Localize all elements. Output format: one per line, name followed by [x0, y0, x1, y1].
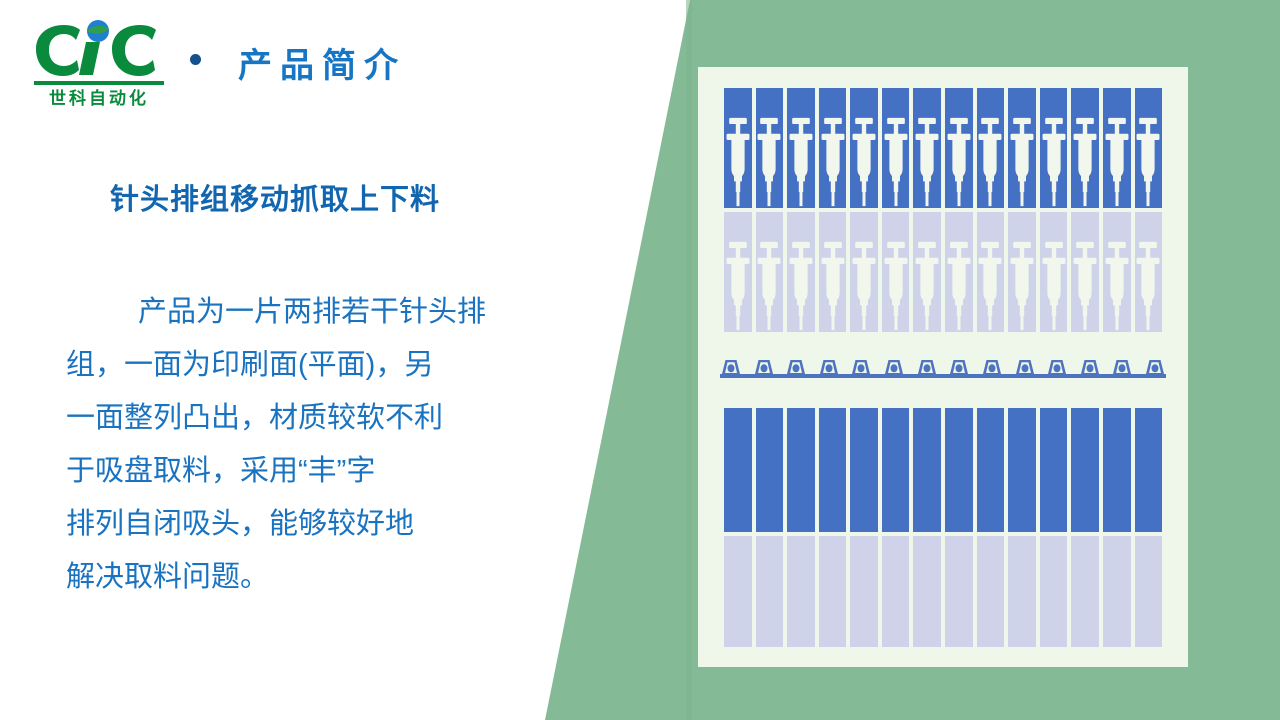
tray-slot — [882, 536, 910, 647]
syringe-icon — [1007, 116, 1037, 213]
slide-root: 世科自动化 产品简介 针头排组移动抓取上下料 产品为一片两排若干针头排 组，一面… — [0, 0, 1280, 720]
tray-slot — [945, 408, 973, 532]
syringe-icon — [1070, 116, 1100, 213]
tray-slot — [850, 88, 878, 208]
syringe-icon — [912, 240, 942, 332]
syringe-icon — [912, 116, 942, 213]
tray-slot — [1135, 88, 1163, 208]
syringe-icon — [754, 240, 784, 332]
tray-slot — [977, 212, 1005, 332]
tray-slot — [1008, 212, 1036, 332]
tray-slot — [787, 88, 815, 208]
syringe-icon — [881, 240, 911, 332]
suction-cup-icon — [720, 359, 742, 374]
tray-slot — [882, 88, 910, 208]
tray-slot — [1135, 408, 1163, 532]
tray-slot — [945, 212, 973, 332]
syringe-icon — [1102, 116, 1132, 213]
tray-slot — [977, 408, 1005, 532]
syringe-icon — [849, 116, 879, 208]
syringe-icon — [754, 116, 784, 213]
tray-slot — [756, 212, 784, 332]
tray-slot — [724, 536, 752, 647]
syringe-icon — [1007, 240, 1037, 337]
upper-tray-lavender-row — [724, 212, 1162, 332]
syringe-icon — [944, 116, 974, 213]
tray-slot — [724, 212, 752, 332]
syringe-icon — [975, 240, 1005, 332]
syringe-icon — [1102, 240, 1132, 332]
syringe-icon — [1039, 116, 1069, 208]
tray-slot — [850, 212, 878, 332]
syringe-icon — [1133, 116, 1163, 213]
logo-divider-rule — [34, 81, 164, 85]
syringe-icon — [1133, 116, 1163, 208]
syringe-icon — [818, 116, 848, 208]
syringe-icon — [1070, 116, 1100, 208]
syringe-icon — [786, 116, 816, 208]
tray-slot — [913, 88, 941, 208]
page-title: 产品简介 — [238, 38, 406, 87]
syringe-icon — [754, 116, 784, 208]
tray-slot — [913, 408, 941, 532]
syringe-icon — [723, 240, 753, 337]
lower-tray-blue-row — [724, 408, 1162, 532]
lower-tray-lavender-row — [724, 536, 1162, 647]
tray-slot — [724, 408, 752, 532]
suction-cup-icon — [1111, 359, 1133, 374]
syringe-icon — [1070, 240, 1100, 337]
syringe-icon — [912, 240, 942, 337]
suction-cup-icon — [981, 359, 1003, 374]
syringe-icon — [818, 240, 848, 337]
syringe-icon — [1102, 116, 1132, 208]
tray-slot — [1071, 212, 1099, 332]
needle-array-diagram — [698, 67, 1188, 667]
tray-slot — [945, 88, 973, 208]
tray-slot — [1008, 88, 1036, 208]
tray-slot — [882, 408, 910, 532]
section-subheading: 针头排组移动抓取上下料 — [110, 176, 440, 218]
tray-slot — [1040, 88, 1068, 208]
body-line: 排列自闭吸头，能够较好地 — [66, 498, 586, 551]
tray-slot — [850, 536, 878, 647]
suction-cup-icon — [1079, 359, 1101, 374]
syringe-icon — [944, 240, 974, 332]
syringe-icon — [944, 116, 974, 208]
header-bullet-icon — [190, 54, 201, 65]
syringe-icon — [1133, 240, 1163, 337]
body-line: 于吸盘取料，采用“丰”字 — [66, 445, 586, 498]
tray-slot — [977, 536, 1005, 647]
syringe-icon — [1133, 240, 1163, 332]
tray-slot — [787, 408, 815, 532]
syringe-icon — [818, 240, 848, 332]
syringe-icon — [1007, 240, 1037, 332]
tray-slot — [787, 536, 815, 647]
cic-automation-logo: 世科自动化 — [24, 18, 174, 114]
syringe-icon — [881, 240, 911, 337]
rail-bar — [720, 374, 1166, 378]
tray-slot — [882, 212, 910, 332]
tray-slot — [1135, 536, 1163, 647]
suction-cup-icon — [916, 359, 938, 374]
tray-slot — [756, 88, 784, 208]
suction-cup-icon — [1014, 359, 1036, 374]
tray-slot — [724, 88, 752, 208]
suction-cup-icon — [1144, 359, 1166, 374]
syringe-icon — [1007, 116, 1037, 208]
tray-slot — [945, 536, 973, 647]
tray-slot — [756, 536, 784, 647]
tray-slot — [1008, 408, 1036, 532]
syringe-icon — [912, 116, 942, 208]
tray-slot — [819, 408, 847, 532]
syringe-icon — [786, 240, 816, 337]
syringe-icon — [723, 116, 753, 213]
tray-slot — [1040, 408, 1068, 532]
tray-slot — [1135, 212, 1163, 332]
tray-slot — [850, 408, 878, 532]
body-line: 产品为一片两排若干针头排 — [66, 286, 586, 339]
tray-slot — [787, 212, 815, 332]
tray-slot — [1071, 536, 1099, 647]
tray-slot — [756, 408, 784, 532]
syringe-icon — [818, 116, 848, 213]
tray-slot — [1103, 88, 1131, 208]
syringe-icon — [849, 240, 879, 332]
syringe-icon — [975, 116, 1005, 213]
suction-cup-rail — [720, 352, 1166, 378]
syringe-icon — [1039, 240, 1069, 337]
tray-slot — [819, 536, 847, 647]
syringe-icon — [754, 240, 784, 337]
syringe-icon — [975, 116, 1005, 208]
suction-cup-icon — [1046, 359, 1068, 374]
syringe-icon — [881, 116, 911, 213]
suction-cup-icon — [753, 359, 775, 374]
tray-slot — [819, 212, 847, 332]
tray-slot — [913, 536, 941, 647]
tray-slot — [913, 212, 941, 332]
body-line: 一面整列凸出，材质较软不利 — [66, 392, 586, 445]
suction-cup-icon — [883, 359, 905, 374]
suction-cup-icon — [818, 359, 840, 374]
syringe-icon — [1039, 116, 1069, 213]
tray-slot — [1071, 88, 1099, 208]
suction-cup-icon — [850, 359, 872, 374]
tray-slot — [1040, 536, 1068, 647]
suction-cup-icon — [785, 359, 807, 374]
tray-slot — [1040, 212, 1068, 332]
syringe-icon — [723, 116, 753, 208]
syringe-icon — [723, 240, 753, 332]
syringe-icon — [1070, 240, 1100, 332]
syringe-icon — [849, 240, 879, 337]
body-line: 解决取料问题。 — [66, 551, 586, 604]
syringe-icon — [786, 116, 816, 213]
logo-wordmark-icon — [24, 18, 174, 80]
logo-subtitle: 世科自动化 — [24, 88, 174, 110]
upper-tray-blue-row — [724, 88, 1162, 208]
syringe-icon — [881, 116, 911, 208]
tray-slot — [1008, 536, 1036, 647]
tray-slot — [1103, 408, 1131, 532]
body-paragraph: 产品为一片两排若干针头排 组，一面为印刷面(平面)，另 一面整列凸出，材质较软不… — [66, 286, 586, 604]
syringe-icon — [786, 240, 816, 332]
syringe-icon — [849, 116, 879, 213]
syringe-icon — [1039, 240, 1069, 332]
tray-slot — [1103, 212, 1131, 332]
syringe-icon — [975, 240, 1005, 337]
suction-cup-icon — [948, 359, 970, 374]
tray-slot — [1103, 536, 1131, 647]
syringe-icon — [1102, 240, 1132, 337]
tray-slot — [977, 88, 1005, 208]
tray-slot — [1071, 408, 1099, 532]
syringe-icon — [944, 240, 974, 337]
tray-slot — [819, 88, 847, 208]
body-line: 组，一面为印刷面(平面)，另 — [66, 339, 586, 392]
